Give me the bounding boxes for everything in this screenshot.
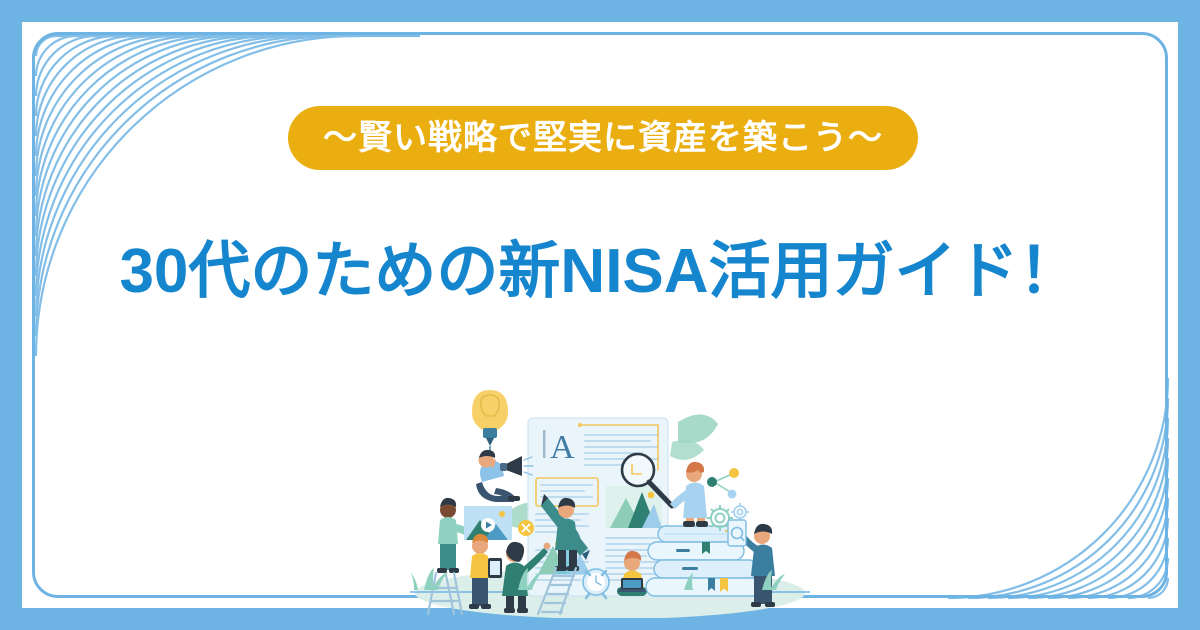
subtitle-badge-label: 〜賢い戦略で堅実に資産を築こう〜 — [323, 121, 883, 155]
frame-band-top — [0, 0, 1200, 22]
illustration-svg: A — [410, 378, 810, 618]
hero-illustration: A — [410, 378, 810, 618]
book-4 — [646, 578, 762, 596]
close-badge-icon — [518, 520, 534, 536]
share-icon — [707, 468, 739, 498]
banner-canvas: 〜賢い戦略で堅実に資産を築こう〜 30代のための新NISA活用ガイド！ A — [0, 0, 1200, 630]
book-3 — [654, 560, 758, 578]
mountain-image-right — [606, 486, 662, 528]
document-letter-A: A — [550, 429, 575, 466]
subtitle-badge: 〜賢い戦略で堅実に資産を築こう〜 — [288, 106, 918, 170]
frame-band-right — [1178, 0, 1200, 630]
tablet-device — [728, 520, 746, 546]
megaphone-icon — [500, 456, 533, 476]
page-title: 30代のための新NISA活用ガイド！ — [0, 238, 1200, 306]
frame-band-left — [0, 0, 22, 630]
photo-frame — [464, 506, 512, 540]
person-megaphone — [476, 450, 533, 502]
book-1 — [658, 526, 738, 542]
